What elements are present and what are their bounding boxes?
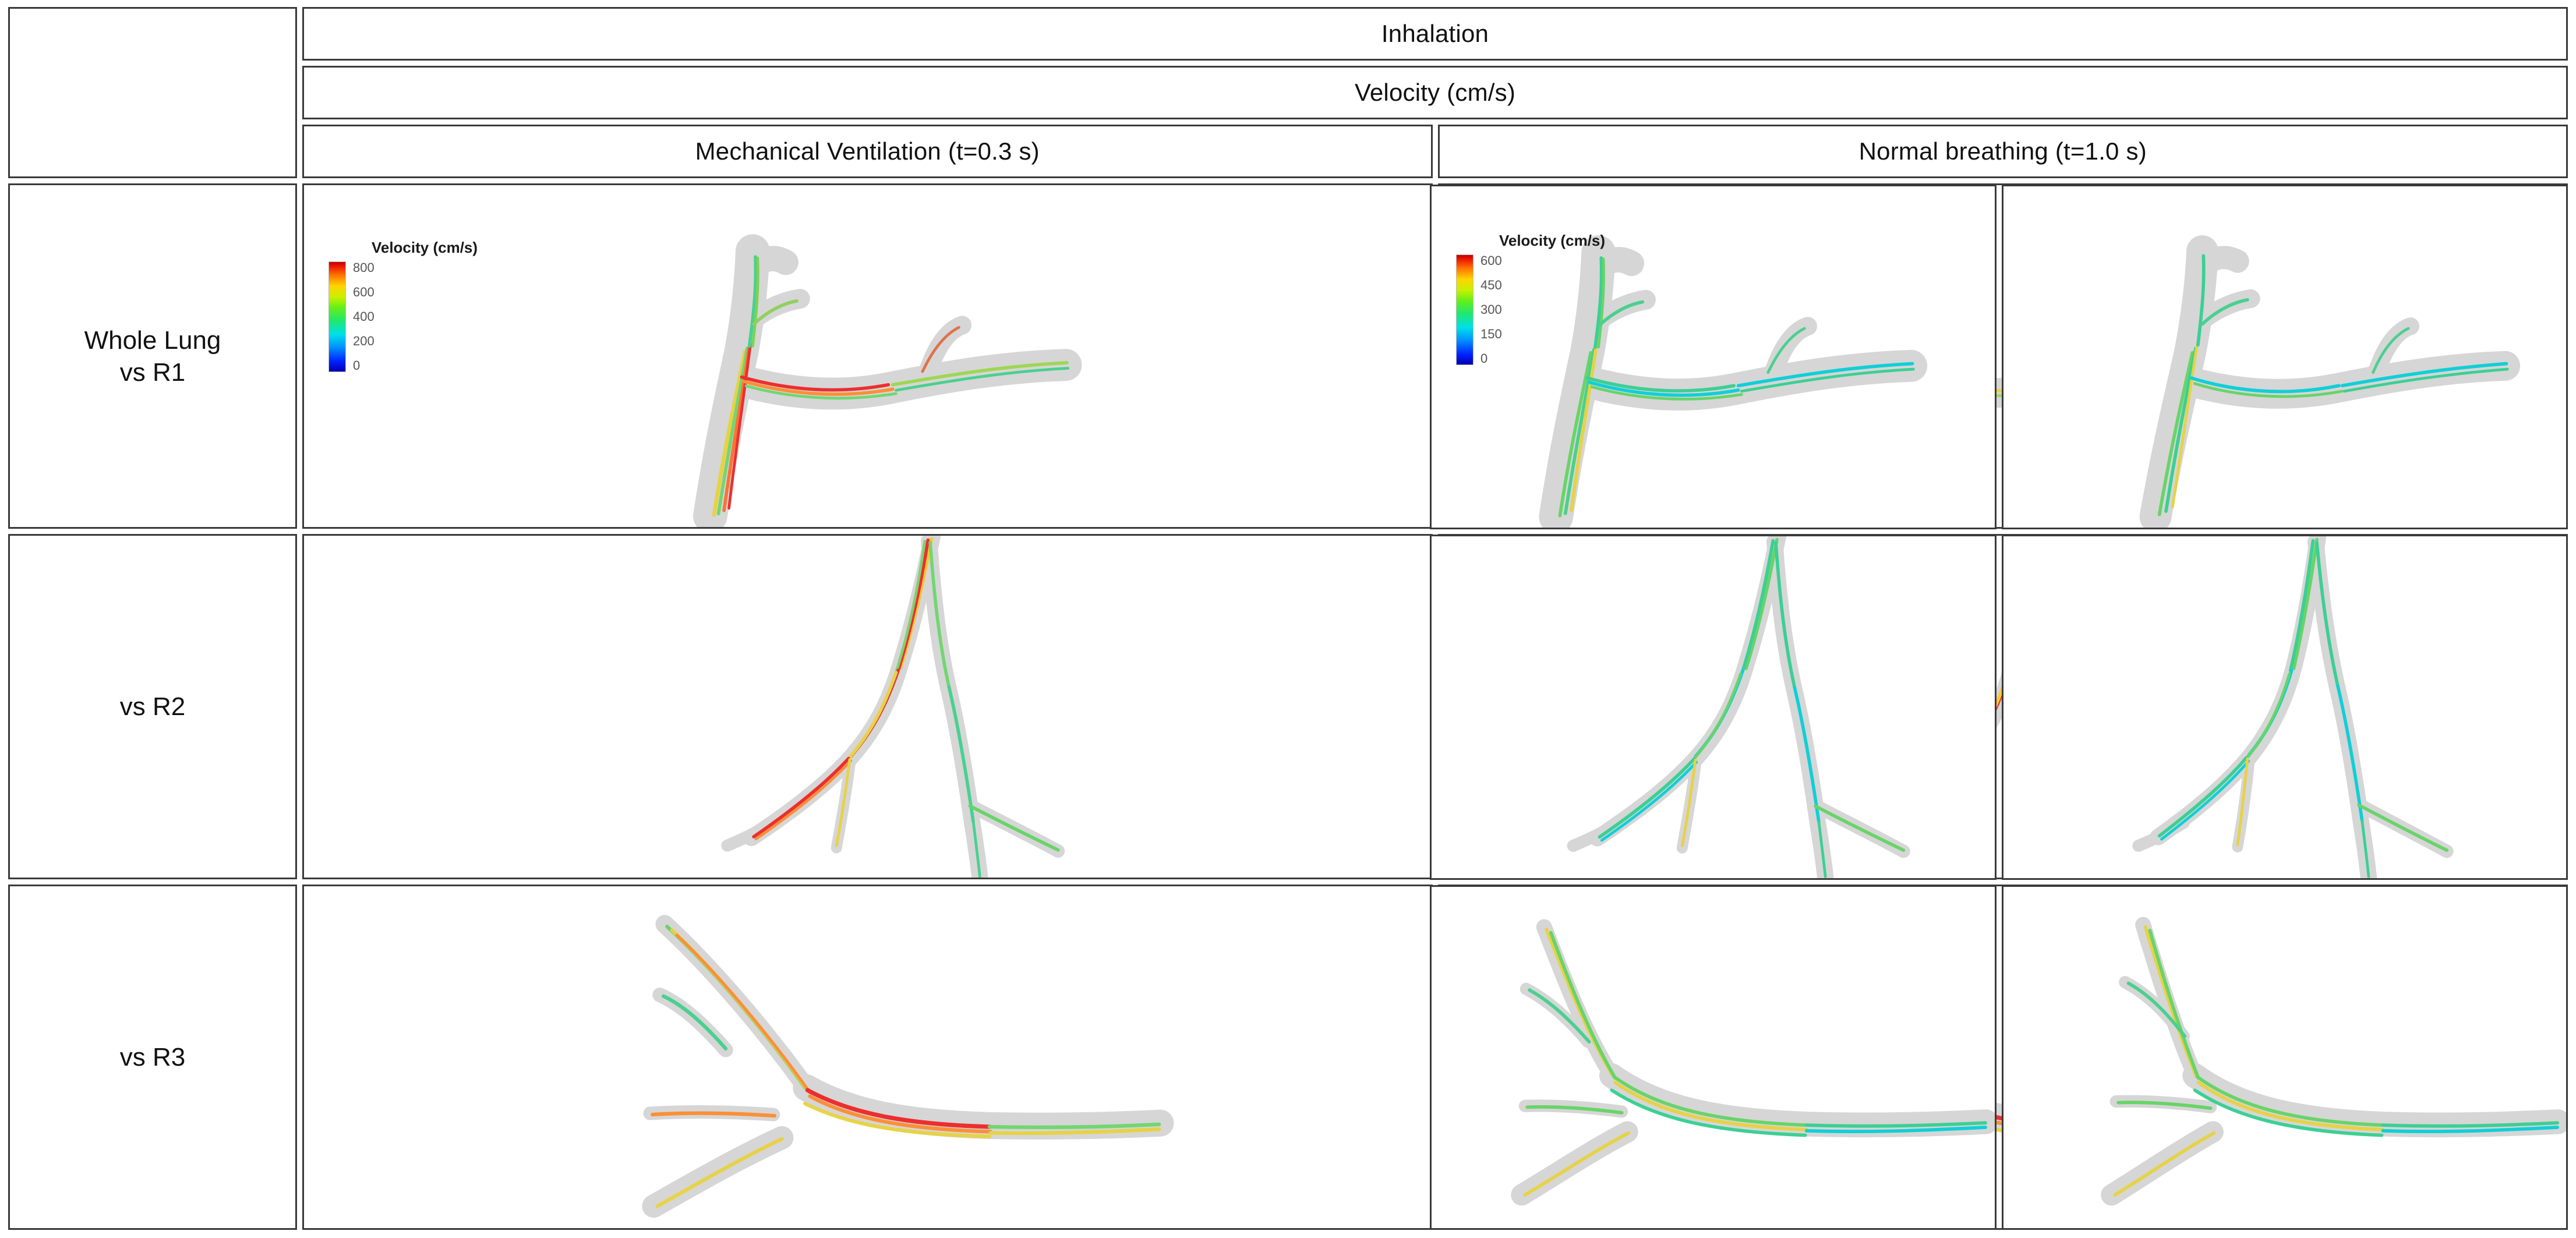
row-3-panels-normal bbox=[1430, 885, 2568, 1230]
viz-r2-nb-2 bbox=[2003, 536, 2567, 878]
legend-nb-tick-1: 450 bbox=[1480, 279, 1502, 292]
legend-mv-title: Velocity (cm/s) bbox=[328, 239, 521, 257]
table-corner-cell bbox=[8, 7, 297, 178]
legend-nb-body: 600 450 300 150 0 bbox=[1456, 254, 1648, 365]
legend-mv-tick-0: 800 bbox=[353, 261, 374, 274]
row-label-1-line1: Whole Lung bbox=[84, 324, 221, 356]
cell-r2-normal-breathing bbox=[1430, 535, 1997, 879]
header-inhalation-label: Inhalation bbox=[1381, 20, 1489, 47]
header-condition-row: Mechanical Ventilation (t=0.3 s) Normal … bbox=[302, 125, 2568, 178]
row-label-1-line2: vs R1 bbox=[84, 356, 221, 388]
viz-r1-nb-2 bbox=[2003, 186, 2567, 528]
viz-r2-nb bbox=[1432, 536, 1995, 878]
row-label-2-line1: vs R2 bbox=[120, 691, 185, 723]
cell-r3-normal-breathing bbox=[1430, 885, 1997, 1230]
header-column-normal-breathing: Normal breathing (t=1.0 s) bbox=[1438, 125, 2568, 178]
viz-r2-mv bbox=[304, 536, 1431, 878]
legend-mv-body: 800 600 400 200 0 bbox=[328, 261, 521, 372]
row-label-text-3: vs R3 bbox=[120, 1041, 185, 1073]
legend-nb-tick-2: 300 bbox=[1480, 303, 1502, 316]
legend-nb-tick-0: 600 bbox=[1480, 254, 1502, 267]
viz-r3-nb bbox=[1432, 887, 1995, 1228]
legend-mv-ticks: 800 600 400 200 0 bbox=[353, 261, 374, 372]
row-label-3-line1: vs R3 bbox=[120, 1041, 185, 1073]
cell-r3-mechanical-ventilation bbox=[302, 885, 1433, 1230]
legend-nb-ticks: 600 450 300 150 0 bbox=[1480, 254, 1502, 365]
cell-r1-mechanical-ventilation: Velocity (cm/s) 800 600 400 200 0 bbox=[302, 183, 1433, 529]
legend-nb-tick-4: 0 bbox=[1480, 352, 1502, 365]
viz-r3-nb-2 bbox=[2003, 887, 2567, 1228]
viz-r3-mv bbox=[304, 886, 1431, 1228]
cell-r2-normal-breathing-view2 bbox=[2002, 535, 2568, 879]
row-label-whole-lung-vs-r1: Whole Lung vs R1 bbox=[8, 183, 297, 529]
row-1-panels-normal: Velocity (cm/s) 600 450 300 150 0 bbox=[1430, 185, 2568, 529]
legend-mv-colorbar bbox=[328, 261, 346, 372]
normal-breathing-column: Velocity (cm/s) 600 450 300 150 0 bbox=[1430, 185, 2568, 1230]
header-inhalation: Inhalation bbox=[302, 7, 2568, 61]
legend-mv-tick-3: 200 bbox=[353, 335, 374, 348]
header-column-mechanical-ventilation: Mechanical Ventilation (t=0.3 s) bbox=[302, 125, 1433, 178]
row-label-text-1: Whole Lung vs R1 bbox=[84, 324, 221, 388]
row-label-text-2: vs R2 bbox=[120, 691, 185, 723]
legend-normal-breathing: Velocity (cm/s) 600 450 300 150 0 bbox=[1456, 232, 1648, 365]
legend-mechanical-ventilation: Velocity (cm/s) 800 600 400 200 0 bbox=[328, 239, 521, 372]
header-velocity: Velocity (cm/s) bbox=[302, 66, 2568, 119]
legend-nb-colorbar bbox=[1456, 254, 1473, 365]
cell-r1-normal-breathing: Velocity (cm/s) 600 450 300 150 0 bbox=[1430, 185, 1997, 529]
legend-mv-tick-4: 0 bbox=[353, 359, 374, 372]
figure-root: Inhalation Velocity (cm/s) Mechanical Ve… bbox=[0, 0, 2576, 1238]
row-2-panels-normal bbox=[1430, 535, 2568, 879]
legend-mv-tick-1: 600 bbox=[353, 286, 374, 299]
row-label-vs-r2: vs R2 bbox=[8, 534, 297, 879]
legend-nb-title: Velocity (cm/s) bbox=[1456, 232, 1648, 250]
header-velocity-label: Velocity (cm/s) bbox=[1355, 79, 1515, 106]
cell-r1-normal-breathing-view2 bbox=[2002, 185, 2568, 529]
legend-mv-tick-2: 400 bbox=[353, 310, 374, 323]
cell-r2-mechanical-ventilation bbox=[302, 534, 1433, 879]
row-label-vs-r3: vs R3 bbox=[8, 885, 297, 1230]
cell-r3-normal-breathing-view2 bbox=[2002, 885, 2568, 1230]
header-column-normal-breathing-label: Normal breathing (t=1.0 s) bbox=[1859, 138, 2147, 165]
header-column-mechanical-ventilation-label: Mechanical Ventilation (t=0.3 s) bbox=[695, 138, 1040, 165]
legend-nb-tick-3: 150 bbox=[1480, 328, 1502, 341]
